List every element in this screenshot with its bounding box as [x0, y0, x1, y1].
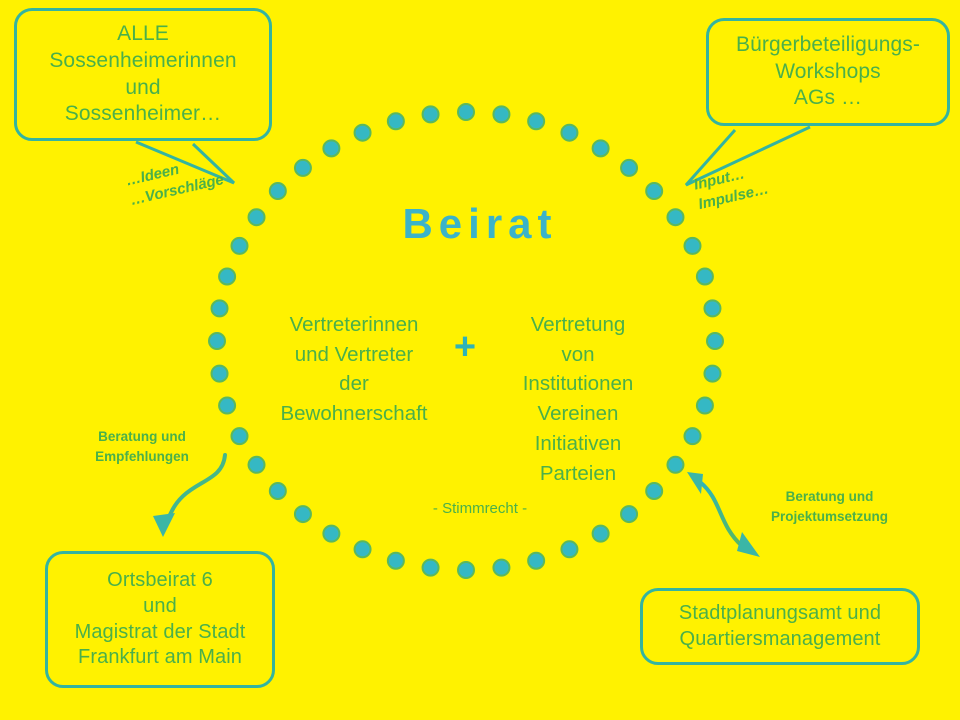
center-column-right: Vertretung von Institutionen Vereinen In…	[490, 310, 666, 488]
annotation-beratung-projektumsetzung: Beratung und Projektumsetzung	[742, 487, 917, 526]
center-column-left: Vertreterinnen und Vertreter der Bewohne…	[268, 310, 440, 429]
ring-dot	[593, 140, 609, 156]
box-stadtplanungsamt[interactable]: Stadtplanungsamt und Quartiersmanagement	[640, 588, 920, 665]
box-ortsbeirat-text: Ortsbeirat 6 und Magistrat der Stadt Fra…	[48, 568, 272, 670]
arrowhead-up-left	[687, 472, 703, 494]
ring-dot	[685, 428, 701, 444]
ring-dot	[323, 140, 339, 156]
ring-dot	[423, 560, 439, 576]
box-ortsbeirat[interactable]: Ortsbeirat 6 und Magistrat der Stadt Fra…	[45, 551, 275, 688]
ring-dot	[388, 553, 404, 569]
ring-dot	[621, 160, 637, 176]
ring-dot	[249, 457, 265, 473]
ring-dot	[697, 398, 713, 414]
diagram-canvas: ALLE Sossenheimerinnen und Sossenheimer……	[0, 0, 960, 720]
ring-dot	[493, 106, 509, 122]
ring-dot	[219, 268, 235, 284]
ring-dot	[270, 483, 286, 499]
ring-dot	[667, 457, 683, 473]
arrowhead-down-right	[737, 532, 760, 557]
ring-dot	[646, 183, 662, 199]
ring-dot	[355, 541, 371, 557]
bubble-citizens[interactable]: ALLE Sossenheimerinnen und Sossenheimer…	[14, 8, 272, 141]
ring-dot	[209, 333, 225, 349]
ring-dot	[593, 526, 609, 542]
ring-dot	[323, 526, 339, 542]
ring-dot	[355, 125, 371, 141]
bubble-workshops[interactable]: Bürgerbeteiligungs- Workshops AGs …	[706, 18, 950, 126]
box-stadtplanungsamt-text: Stadtplanungsamt und Quartiersmanagement	[643, 601, 917, 652]
ring-dot	[212, 366, 228, 382]
ring-dot	[561, 125, 577, 141]
ring-dot	[528, 113, 544, 129]
ring-dot	[458, 104, 474, 120]
ring-dot	[232, 428, 248, 444]
ring-dot	[295, 160, 311, 176]
ring-dot	[212, 300, 228, 316]
ring-dot	[528, 553, 544, 569]
ring-dot	[219, 398, 235, 414]
ring-dot	[458, 562, 474, 578]
bubble-citizens-text: ALLE Sossenheimerinnen und Sossenheimer…	[17, 21, 269, 129]
ring-dot	[270, 183, 286, 199]
ring-dot	[697, 268, 713, 284]
ring-dot	[704, 300, 720, 316]
ring-dot	[423, 106, 439, 122]
ring-dot	[388, 113, 404, 129]
ring-dot	[493, 560, 509, 576]
ring-dot	[704, 366, 720, 382]
ring-dot	[707, 333, 723, 349]
annotation-beratung-empfehlungen: Beratung und Empfehlungen	[72, 427, 212, 466]
plus-icon: +	[448, 330, 482, 364]
ring-dot	[561, 541, 577, 557]
bubble-workshops-text: Bürgerbeteiligungs- Workshops AGs …	[709, 32, 947, 113]
